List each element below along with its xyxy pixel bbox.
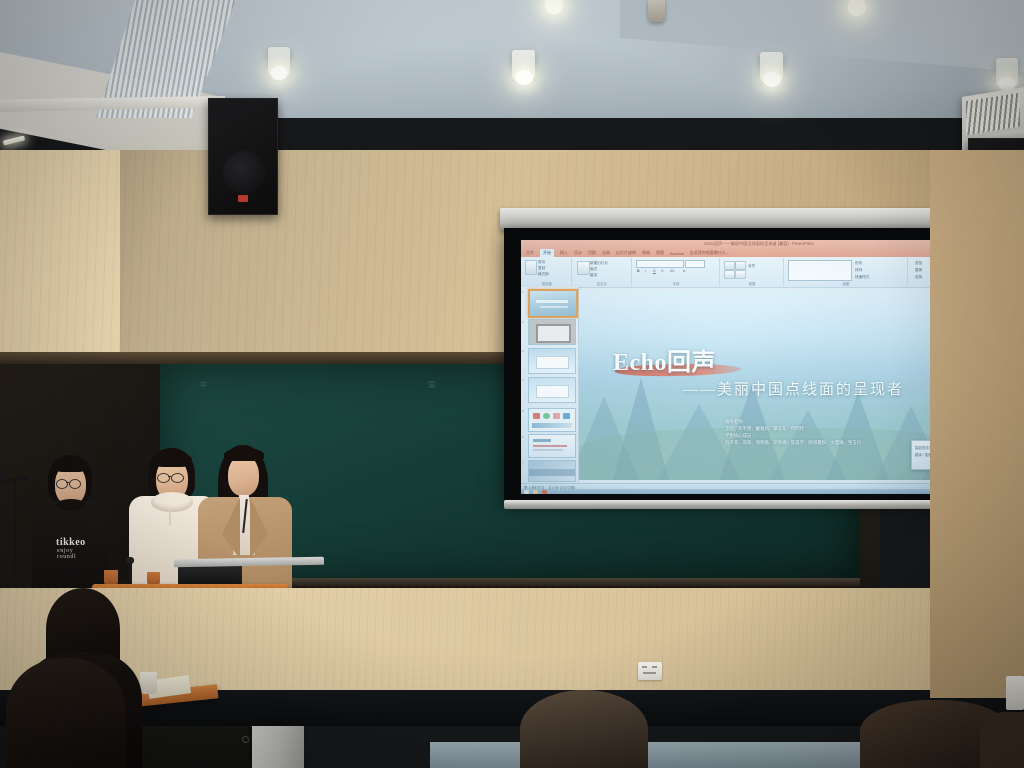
tab-insert[interactable]: 插入 <box>560 250 568 256</box>
slide-thumbnail-1[interactable] <box>528 289 578 318</box>
strikethrough-button[interactable]: S <box>661 269 663 273</box>
font-name-box[interactable] <box>636 260 684 268</box>
copy-label[interactable]: 复制 <box>538 266 545 271</box>
group-label-paragraph: 段落 <box>721 281 783 286</box>
outlet-slot <box>652 666 657 668</box>
microphone-head <box>0 472 8 480</box>
hoodie-collar <box>151 492 193 512</box>
thumb-textbox <box>536 385 569 398</box>
powerpoint-icon[interactable] <box>542 490 547 494</box>
thumb-title-strip <box>536 300 568 303</box>
thumb-line <box>533 449 563 451</box>
thumbnail-number: 5 <box>522 409 524 413</box>
powerpoint-window[interactable]: Echo回声——美丽中国点线面的呈现者 [兼容] - PowerPoint — … <box>521 240 983 494</box>
ribbon-tab-bar[interactable]: 文件 开始 插入 设计 切换 动画 幻灯片放映 审阅 视图 Acrobat 告诉… <box>521 249 983 257</box>
popup-line-2[interactable]: 翻译 / 搜索 <box>915 452 931 457</box>
ribbon-group-paragraph: 对齐 段落 <box>721 258 784 286</box>
underline-button[interactable]: U <box>653 269 656 273</box>
blackboard-mark: 中 <box>200 380 208 390</box>
credits-advisors-names: 王欣、陈平原、戴雅莉、覃志东、何明玲 <box>725 425 940 432</box>
paper-cup <box>140 672 157 694</box>
ribbon-group-font: B I U S AV A 字体 <box>633 258 720 286</box>
lecture-hall-photo: 中 国 HT Echo回声——美丽中国点线面的呈现者 [兼容] - PowerP… <box>0 0 1024 768</box>
thumb-photo-band <box>529 469 575 476</box>
blackboard-mark: 国 <box>428 380 436 390</box>
shapes-gallery[interactable] <box>788 260 852 281</box>
glasses-lens-left <box>157 473 170 483</box>
thumbnail-number: 1 <box>522 290 524 294</box>
slide-thumbnail-7[interactable] <box>528 460 576 482</box>
glasses-lens-right <box>171 473 184 483</box>
format-painter-label[interactable]: 格式刷 <box>538 272 549 277</box>
slide-canvas[interactable]: Echo回声 ——美丽中国点线面的呈现者 指导老师： 王欣、陈平原、戴雅莉、覃志… <box>579 290 963 480</box>
italic-button[interactable]: I <box>645 269 646 273</box>
projection-screen-weight-bar <box>504 500 1004 509</box>
speaker-cone <box>223 151 265 193</box>
thumb-line <box>533 445 567 447</box>
slide-credits-block: 指导老师： 王欣、陈平原、戴雅莉、覃志东、何明玲 学生核心成员： 刘子菲、周萌、… <box>725 418 940 446</box>
thumbnail-number: 2 <box>522 320 524 324</box>
align-center-icon[interactable] <box>735 270 746 279</box>
hair-part <box>224 448 264 461</box>
group-label-clipboard: 剪贴板 <box>523 281 571 286</box>
audience-right-shoulder <box>980 712 1024 768</box>
slide-subtitle: ——美丽中国点线面的呈现者 <box>683 378 904 399</box>
tab-slideshow[interactable]: 幻灯片放映 <box>616 250 636 256</box>
glasses-bridge <box>66 482 70 483</box>
thumb-textbox <box>536 356 569 369</box>
tab-view[interactable]: 视图 <box>656 250 664 256</box>
thumb-icon-blue <box>563 413 570 419</box>
credits-members-label: 学生核心成员： <box>725 432 940 439</box>
ceiling-downlight <box>512 50 535 79</box>
windows-taskbar[interactable]: 10:41 <box>521 489 983 494</box>
ceiling-downlight <box>268 47 290 75</box>
ribbon-group-clipboard: 剪切 复制 格式刷 剪贴板 <box>523 258 572 286</box>
font-color-button[interactable]: A <box>683 269 685 273</box>
tab-home[interactable]: 开始 <box>540 249 554 257</box>
paragraph-extra[interactable]: 对齐 <box>748 264 755 269</box>
select-label[interactable]: 选择 <box>915 275 922 280</box>
wall-right-wood-column <box>930 150 1024 698</box>
group-label-slides: 幻灯片 <box>573 281 631 286</box>
reset-label[interactable]: 重设 <box>590 273 597 278</box>
find-label[interactable]: 查找 <box>915 261 922 266</box>
wall-mounted-device <box>1006 676 1024 710</box>
hoodie-drawstring <box>169 510 171 526</box>
glasses-lens-left <box>56 479 68 489</box>
tab-design[interactable]: 设计 <box>574 250 582 256</box>
thumb-line <box>533 439 551 442</box>
ribbon-group-drawing: 形状 排列 快速样式 绘图 <box>785 258 908 286</box>
quick-styles-label[interactable]: 快速样式 <box>855 275 869 280</box>
thumb-icon-green <box>543 413 550 419</box>
layout-label[interactable]: 版式 <box>590 267 597 272</box>
head <box>228 455 259 496</box>
tab-file[interactable]: 文件 <box>526 250 534 256</box>
wall-speaker-left <box>208 98 278 215</box>
new-slide-label[interactable]: 新建幻灯片 <box>590 261 608 266</box>
glasses-lens-right <box>69 479 81 489</box>
smoke-detector-icon <box>648 0 665 22</box>
credits-members-names: 刘子菲、周萌、周晓薇、邓青青、陈晨宇、欧阳鑫悦、文慧琳、邹玉丹 <box>725 439 940 446</box>
document-title: Echo回声——美丽中国点线面的呈现者 [兼容] - PowerPoint <box>639 241 879 247</box>
ceiling-downlight <box>996 58 1018 86</box>
paste-icon[interactable] <box>525 260 537 275</box>
tab-animations[interactable]: 动画 <box>602 250 610 256</box>
audience-center <box>520 690 648 768</box>
thumb-bar <box>532 423 572 428</box>
thumb-icon-pink <box>553 413 560 419</box>
thumbnail-number: 7 <box>522 461 524 465</box>
slide-main-title: Echo回声 <box>613 342 716 377</box>
slide-thumbnail-3[interactable] <box>528 348 576 374</box>
group-label-drawing: 绘图 <box>785 281 907 286</box>
outlet-slot <box>642 666 647 668</box>
hoodie-neck <box>56 499 86 511</box>
thumbnail-number: 4 <box>522 378 524 382</box>
ribbon[interactable]: 剪切 复制 格式刷 剪贴板 新建幻灯片 版式 重设 幻灯片 B I U S <box>521 257 983 288</box>
recessed-linear-light <box>3 135 26 145</box>
microphone-stand-pole <box>14 480 16 580</box>
wall-power-outlet <box>638 662 662 680</box>
windows-start-icon[interactable] <box>524 490 529 494</box>
credits-advisors-label: 指导老师： <box>725 418 940 425</box>
bold-button[interactable]: B <box>637 269 640 273</box>
tab-review[interactable]: 审阅 <box>642 250 650 256</box>
ac-vent-grille <box>966 93 1020 136</box>
slide-thumbnail-4[interactable] <box>528 377 576 403</box>
align-left-icon[interactable] <box>724 270 735 279</box>
thumb-shape <box>536 324 571 343</box>
slide-thumbnail-5[interactable] <box>528 408 576 432</box>
replace-label[interactable]: 替换 <box>915 268 922 273</box>
numbering-icon[interactable] <box>735 261 746 270</box>
file-explorer-icon[interactable] <box>533 490 538 494</box>
thumb-icon-red <box>533 413 540 419</box>
powerpoint-title-bar: Echo回声——美丽中国点线面的呈现者 [兼容] - PowerPoint — … <box>521 240 983 249</box>
ribbon-group-slides: 新建幻灯片 版式 重设 幻灯片 <box>573 258 632 286</box>
tab-acrobat[interactable]: Acrobat <box>670 251 684 256</box>
bullets-icon[interactable] <box>724 261 735 270</box>
speaker-logo-badge <box>238 195 248 202</box>
audience-left-back <box>6 658 126 768</box>
cut-label[interactable]: 剪切 <box>538 260 545 265</box>
tell-me-search[interactable]: 告诉我你想要做什么... <box>690 250 729 256</box>
new-slide-icon[interactable] <box>577 261 590 275</box>
shapes-label[interactable]: 形状 <box>855 261 862 266</box>
slide-thumbnail-6[interactable] <box>528 434 576 458</box>
glasses-bridge <box>168 476 172 477</box>
shirt-text-line-2: enjoy roundl <box>57 548 76 560</box>
ceiling-downlight <box>760 52 783 81</box>
hair-fringe <box>152 452 192 467</box>
group-label-font: 字体 <box>633 281 719 286</box>
hair-fringe <box>52 458 89 472</box>
char-spacing-button[interactable]: AV <box>670 269 675 273</box>
thumbnail-number: 6 <box>522 435 524 439</box>
font-size-box[interactable] <box>685 260 705 268</box>
cup <box>104 570 118 585</box>
thumb-sub-strip <box>540 306 568 308</box>
outlet-slot <box>643 672 656 674</box>
thumbnail-number: 3 <box>522 349 524 353</box>
slide-thumbnail-panel[interactable]: 1 2 3 4 5 <box>521 287 579 483</box>
arrange-label[interactable]: 排列 <box>855 268 862 273</box>
shirt-text-line-1: tikkeo <box>56 537 86 548</box>
slide-thumbnail-2[interactable] <box>528 319 576 345</box>
lectern-lower-lock <box>242 736 249 743</box>
tab-transitions[interactable]: 切换 <box>588 250 596 256</box>
